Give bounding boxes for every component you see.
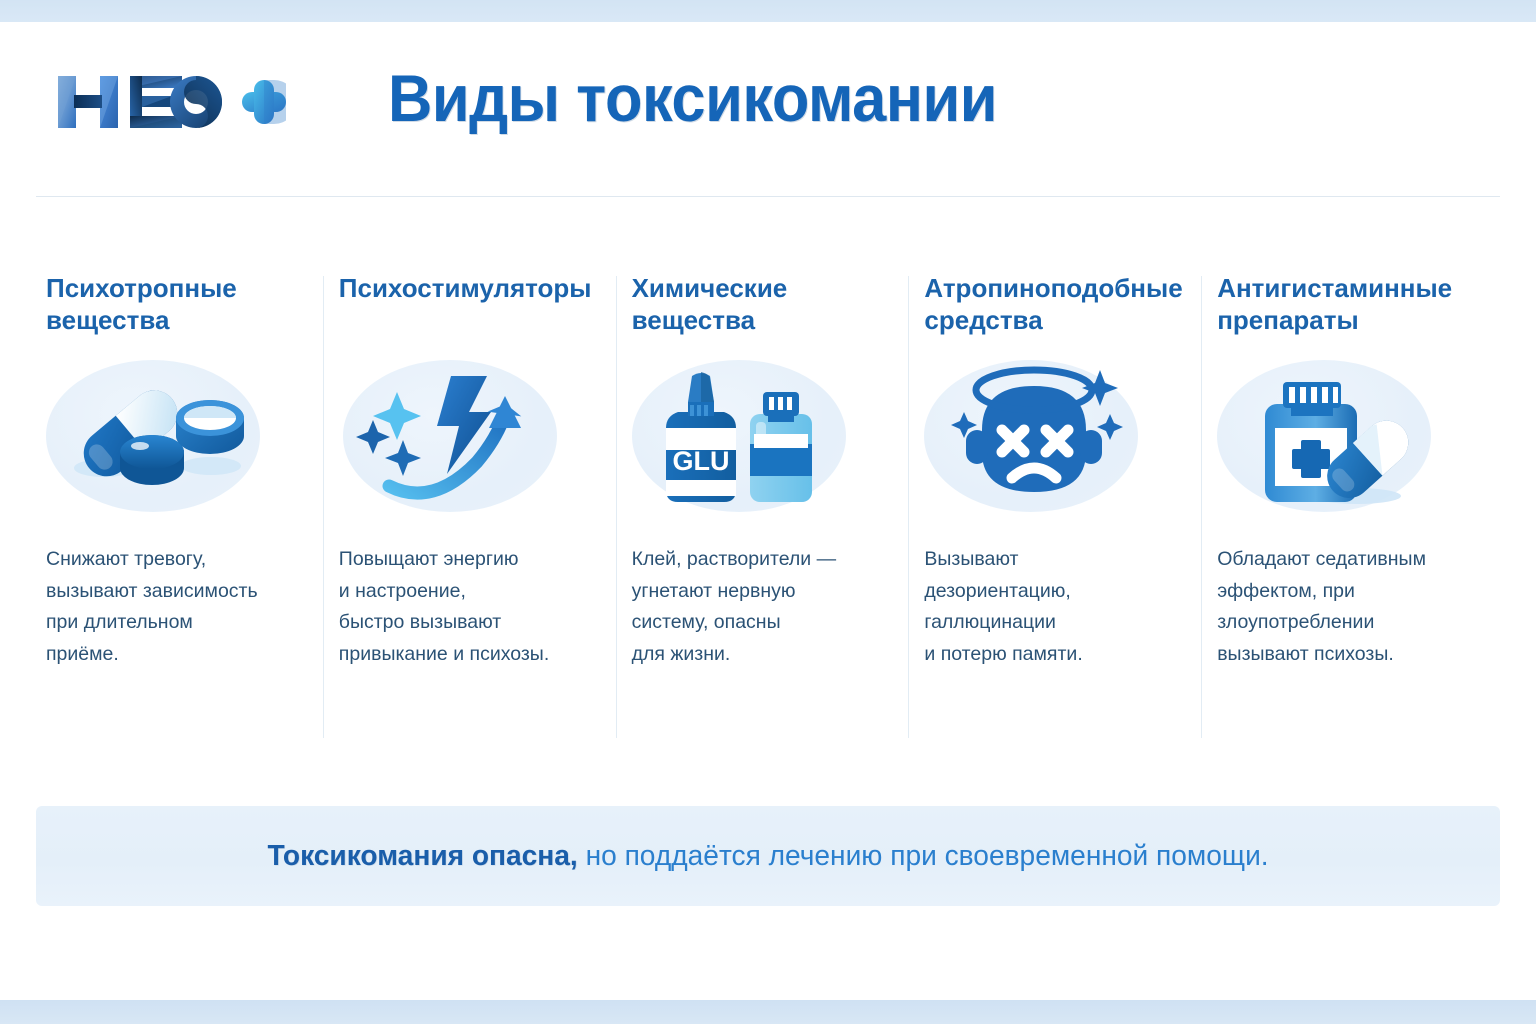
glue-bottle: GLU xyxy=(666,372,736,502)
lightning-bolt-arrow-icon xyxy=(339,356,561,516)
glue-solvent-bottles-icon: GLU xyxy=(632,356,854,516)
header-divider xyxy=(36,196,1500,197)
column-body: Клей, растворители — угнетают нервную си… xyxy=(632,544,897,670)
page-title: Виды токсикомании xyxy=(388,60,997,136)
pills-icon xyxy=(46,356,268,516)
column-title: Химические вещества xyxy=(632,272,897,338)
column-body: Обладают седативным эффектом, при злоупо… xyxy=(1217,544,1482,670)
category-column-antihistamines: Антигистаминные препараты xyxy=(1207,272,1500,740)
column-body: Повыщают энергию и настроение, быстро вы… xyxy=(339,544,604,670)
column-title: Психотропные вещества xyxy=(46,272,311,338)
column-body: Снижают тревогу, вызывают зависимость пр… xyxy=(46,544,311,670)
solvent-bottle xyxy=(750,392,812,502)
category-column-chemicals: Химические вещества xyxy=(622,272,915,740)
column-title: Атропиноподобные средства xyxy=(924,272,1189,338)
column-title: Антигистаминные препараты xyxy=(1217,272,1482,338)
top-decor-strip xyxy=(0,0,1536,22)
poster-header: Виды токсикомании xyxy=(0,22,1536,194)
footer-banner-strong: Токсикомания опасна, xyxy=(267,840,577,872)
pill-bottle-capsule-icon xyxy=(1217,356,1439,516)
neo-plus-logo xyxy=(46,62,286,142)
footer-banner: Токсикомания опасна, но поддаётся лечени… xyxy=(36,806,1500,906)
footer-banner-rest: но поддаётся лечению при своевременной п… xyxy=(578,840,1269,872)
footer-banner-text: Токсикомания опасна, но поддаётся лечени… xyxy=(267,840,1268,873)
sparkle xyxy=(356,392,421,476)
category-column-psychotropic: Психотропные вещества xyxy=(36,272,329,740)
category-columns: Психотропные вещества xyxy=(36,272,1500,740)
infographic-poster: Виды токсикомании Психотропные вещества xyxy=(0,0,1536,1024)
category-column-stimulants: Психостимуляторы xyxy=(329,272,622,740)
dizzy-face-icon xyxy=(924,356,1146,516)
column-title: Психостимуляторы xyxy=(339,272,604,338)
category-column-atropine: Атропиноподобные средства xyxy=(914,272,1207,740)
glue-label: GLU xyxy=(672,446,729,476)
column-body: Вызывают дезориентацию, галлюцинации и п… xyxy=(924,544,1189,670)
bottom-decor-strip xyxy=(0,1000,1536,1024)
